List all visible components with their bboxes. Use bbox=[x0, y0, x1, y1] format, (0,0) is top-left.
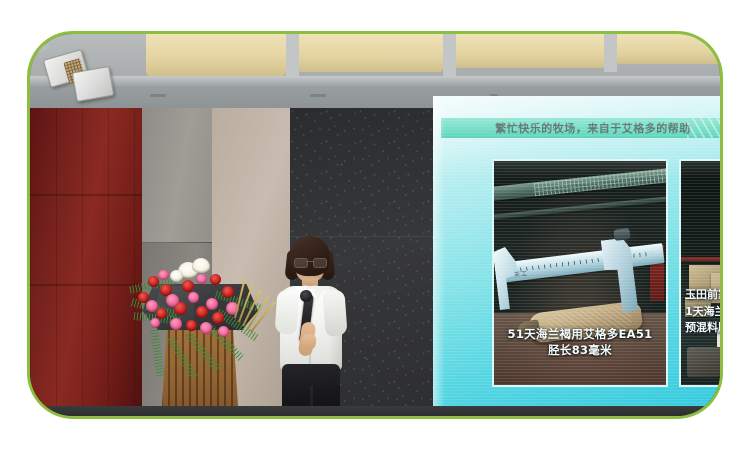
pink-bloom bbox=[188, 292, 199, 303]
ceiling-vent bbox=[310, 94, 326, 97]
white-bloom bbox=[170, 270, 183, 282]
wall-wood-panel bbox=[30, 108, 142, 416]
slide-caption-right-line2: 1天海兰 bbox=[685, 304, 720, 321]
pink-bloom bbox=[170, 318, 182, 330]
slide-caption-right-line1: 玉田前家 bbox=[685, 287, 720, 304]
caliper-brand-mark: 天工 bbox=[514, 268, 529, 279]
presenter bbox=[266, 236, 374, 416]
ceiling-beam bbox=[604, 34, 617, 72]
eyeglass-bridge bbox=[306, 261, 313, 262]
ceiling-vent bbox=[150, 94, 166, 97]
flower-arrangement bbox=[130, 256, 262, 348]
photo-frame: 繁忙快乐的牧场，来自于艾格多的帮助 bbox=[27, 31, 723, 419]
eyeglass-lens-right bbox=[313, 258, 327, 268]
feed-sack bbox=[687, 347, 720, 377]
screen-left-highlight bbox=[433, 96, 445, 415]
slide-caption-left-line2: 胫长83毫米 bbox=[494, 342, 666, 359]
slide-title-text: 繁忙快乐的牧场，来自于艾格多的帮助 bbox=[495, 120, 691, 136]
stage-floor bbox=[30, 406, 720, 416]
lily-bloom bbox=[192, 258, 210, 273]
ceiling-light-panel bbox=[298, 34, 443, 72]
photo-content: 繁忙快乐的牧场，来自于艾格多的帮助 bbox=[30, 34, 720, 416]
pink-bloom bbox=[150, 318, 160, 328]
ceiling-light-panel bbox=[455, 34, 605, 68]
slide-caption-left: 51天海兰褐用艾格多EA51 胫长83毫米 bbox=[494, 326, 666, 359]
ceiling-light-panel bbox=[616, 34, 720, 64]
red-bloom bbox=[182, 280, 194, 292]
red-bloom bbox=[148, 276, 159, 287]
screenshot-root: 繁忙快乐的牧场，来自于艾格多的帮助 bbox=[0, 0, 750, 450]
eyeglasses-icon bbox=[294, 258, 326, 266]
pink-bloom bbox=[200, 322, 212, 334]
shirt-sleeve-right bbox=[322, 289, 347, 336]
shirt-sleeve-left bbox=[274, 289, 299, 334]
eyeglass-lens-left bbox=[294, 258, 308, 268]
pink-bloom bbox=[218, 326, 229, 337]
slide-photo-left: 天工 51天海兰褐用艾格多EA51 胫长83毫米 bbox=[492, 159, 668, 387]
slide-title-banner: 繁忙快乐的牧场，来自于艾格多的帮助 bbox=[441, 118, 720, 138]
ceiling-light-panel bbox=[146, 34, 286, 76]
slide-caption-left-line1: 51天海兰褐用艾格多EA51 bbox=[494, 326, 666, 343]
ceiling-beam bbox=[286, 34, 299, 78]
pink-bloom bbox=[146, 300, 158, 312]
red-bloom bbox=[210, 274, 221, 285]
pink-bloom bbox=[206, 298, 218, 310]
storeroom-red-stripe bbox=[681, 257, 720, 261]
slide-caption-right: 玉田前家 1天海兰 预混料胆 bbox=[685, 287, 720, 337]
red-bloom bbox=[186, 320, 197, 331]
ceiling-beam bbox=[443, 34, 456, 76]
banner-stripe-decoration bbox=[687, 118, 720, 138]
caliper-thumbwheel bbox=[613, 228, 630, 241]
red-bloom bbox=[196, 306, 208, 318]
pink-bloom bbox=[166, 294, 179, 307]
red-bloom bbox=[156, 308, 167, 319]
ceiling-beam bbox=[30, 76, 720, 86]
pink-bloom bbox=[158, 270, 169, 280]
slide-caption-right-line3: 预混料胆 bbox=[685, 320, 720, 337]
projection-screen: 繁忙快乐的牧场，来自于艾格多的帮助 bbox=[433, 96, 720, 415]
red-bloom bbox=[212, 312, 224, 324]
red-bloom bbox=[222, 286, 234, 298]
presenter-hair-top bbox=[290, 236, 330, 276]
slide-photo-right: 玉田前家 1天海兰 预混料胆 bbox=[679, 159, 720, 387]
pink-bloom bbox=[196, 274, 207, 284]
